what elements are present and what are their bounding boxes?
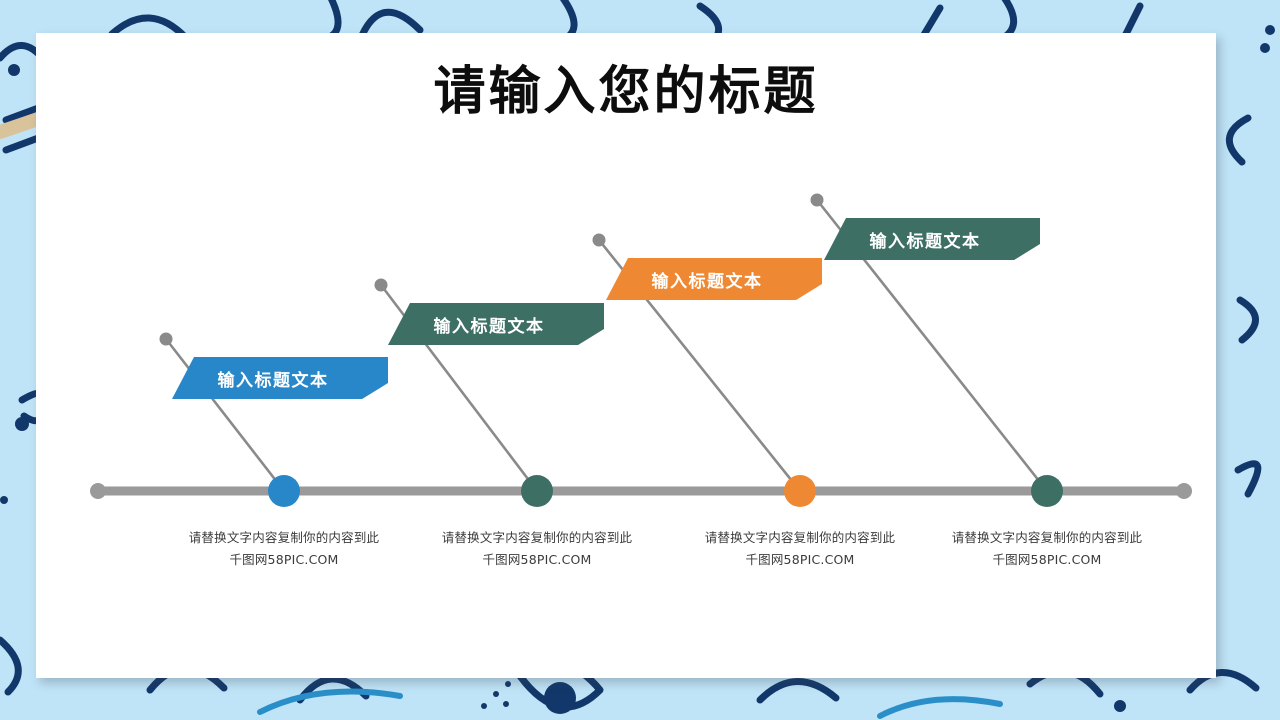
caption-4-line2: 千图网58PIC.COM [922,549,1172,571]
banner-label-3[interactable]: 输入标题文本 [606,258,822,300]
banner-text-2: 输入标题文本 [434,312,545,337]
banner-text-4: 输入标题文本 [870,227,981,252]
slide-root: 请输入您的标题 [0,0,1280,720]
caption-2: 请替换文字内容复制你的内容到此 千图网58PIC.COM [412,527,662,571]
caption-1-line1: 请替换文字内容复制你的内容到此 [189,530,380,545]
caption-3-line2: 千图网58PIC.COM [675,549,925,571]
timeline-node-4 [1031,475,1063,507]
connector-dot-3 [593,234,606,247]
timeline-node-2 [521,475,553,507]
timeline-node-3 [784,475,816,507]
caption-3-line1: 请替换文字内容复制你的内容到此 [705,530,896,545]
connector-dot-4 [811,194,824,207]
caption-4-line1: 请替换文字内容复制你的内容到此 [952,530,1143,545]
banner-label-4[interactable]: 输入标题文本 [824,218,1040,260]
timeline-graphic: 输入标题文本 输入标题文本 输入标题文本 输入标题文本 请替换文字内容复制你的内… [36,33,1216,678]
slide-card: 请输入您的标题 [36,33,1216,678]
caption-4: 请替换文字内容复制你的内容到此 千图网58PIC.COM [922,527,1172,571]
timeline-right-endcap [1176,483,1192,499]
timeline-left-endcap [90,483,106,499]
banner-text-1: 输入标题文本 [218,366,329,391]
banner-label-1[interactable]: 输入标题文本 [172,357,388,399]
connector-dot-1 [160,333,173,346]
connector-dot-2 [375,279,388,292]
banner-text-3: 输入标题文本 [652,267,763,292]
caption-3: 请替换文字内容复制你的内容到此 千图网58PIC.COM [675,527,925,571]
caption-2-line2: 千图网58PIC.COM [412,549,662,571]
timeline-node-1 [268,475,300,507]
caption-1-line2: 千图网58PIC.COM [159,549,409,571]
banner-label-2[interactable]: 输入标题文本 [388,303,604,345]
caption-2-line1: 请替换文字内容复制你的内容到此 [442,530,633,545]
caption-1: 请替换文字内容复制你的内容到此 千图网58PIC.COM [159,527,409,571]
